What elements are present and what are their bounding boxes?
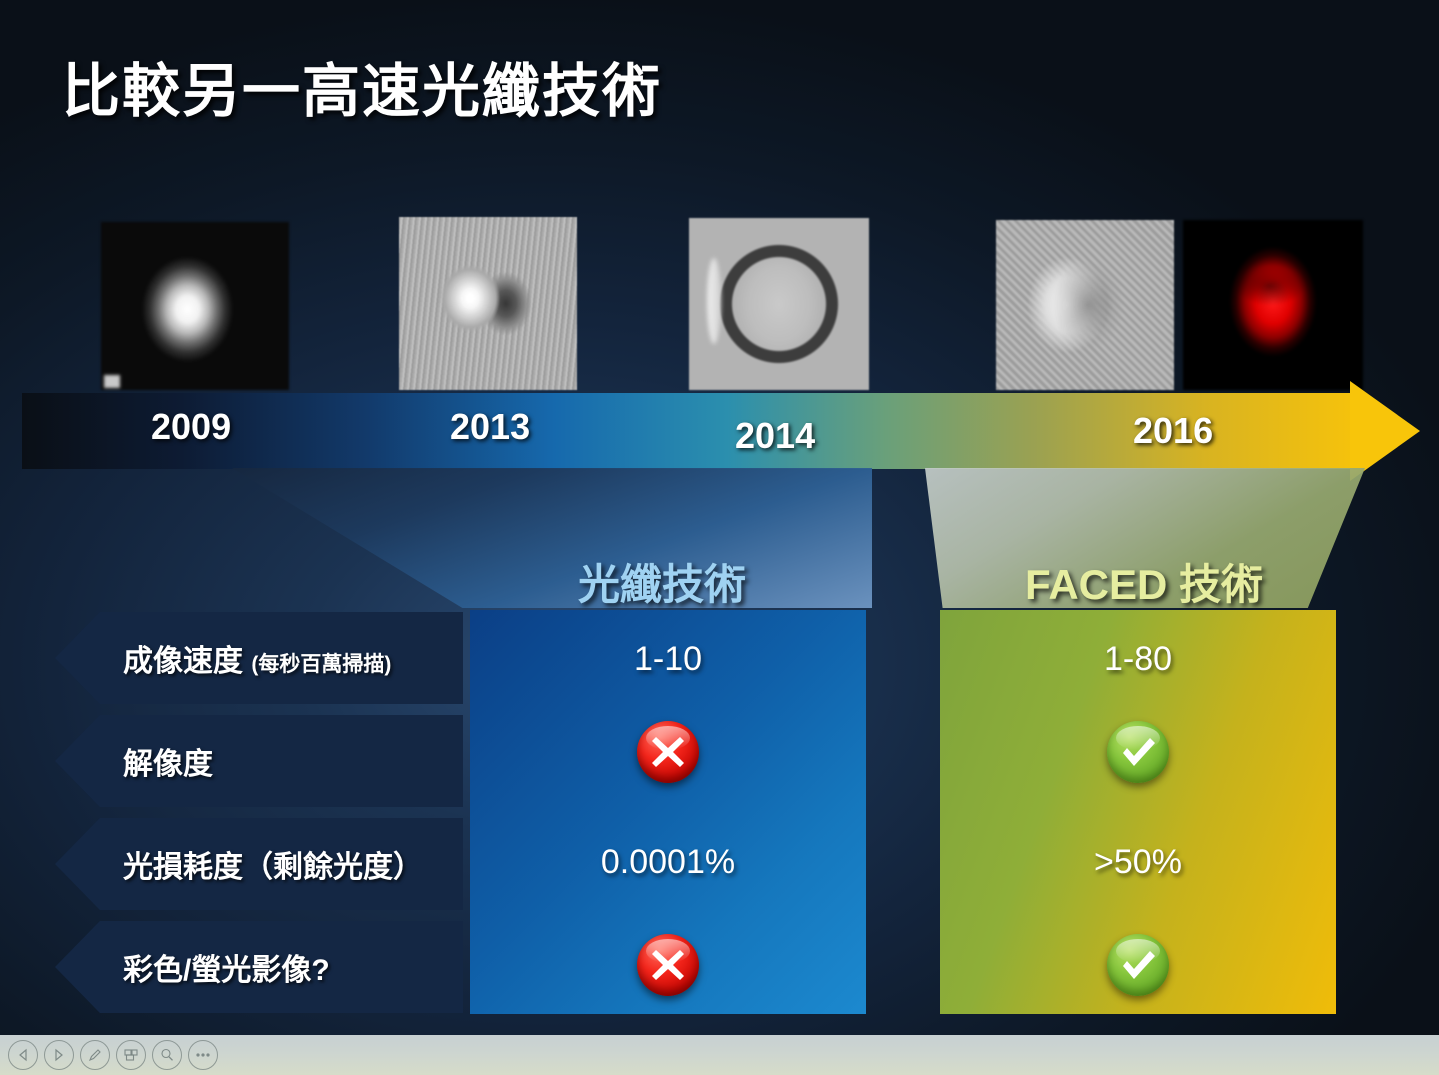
column-header-fiber: 光纖技術 <box>578 551 746 612</box>
cell-image-2016-fluorescence <box>1183 220 1363 390</box>
timeline-arrowhead-icon <box>1350 381 1420 481</box>
check-icon <box>1107 721 1169 783</box>
cell-image-2016-gray <box>996 220 1174 390</box>
pen-tool-button[interactable] <box>80 1040 110 1070</box>
presentation-toolbar <box>0 1035 1439 1075</box>
row-label-imaging-speed-sub: (每秒百萬掃描) <box>251 653 391 676</box>
row-label-resolution-main: 解像度 <box>123 748 213 781</box>
slide-overview-button[interactable] <box>116 1040 146 1070</box>
row-label-resolution: 解像度 <box>55 715 463 807</box>
row-label-imaging-speed-main: 成像速度 <box>123 645 243 678</box>
cell-image-2009 <box>101 222 289 390</box>
row-label-imaging-speed: 成像速度 (每秒百萬掃描) <box>55 612 463 704</box>
page-title: 比較另一高速光纖技術 <box>62 44 662 128</box>
previous-slide-button[interactable] <box>8 1040 38 1070</box>
cell-image-2013 <box>399 217 577 390</box>
timeline-year-2009: 2009 <box>151 406 231 448</box>
zoom-button[interactable] <box>152 1040 182 1070</box>
row-label-color-fluorescence: 彩色/螢光影像? <box>55 921 463 1013</box>
cross-icon <box>637 721 699 783</box>
check-icon <box>1107 934 1169 996</box>
cell-faced-imaging-speed: 1-80 <box>940 640 1336 679</box>
cell-fiber-imaging-speed: 1-10 <box>470 640 866 679</box>
row-label-optical-loss-main: 光損耗度（剩餘光度） <box>123 851 423 884</box>
cell-fiber-optical-loss: 0.0001% <box>470 843 866 882</box>
row-label-optical-loss: 光損耗度（剩餘光度） <box>55 818 463 910</box>
timeline-year-2016: 2016 <box>1133 410 1213 452</box>
timeline-year-2013: 2013 <box>450 406 530 448</box>
cell-image-2014 <box>689 218 869 390</box>
presentation-slide: 比較另一高速光纖技術 2009 2013 2014 2016 光纖技術 FACE… <box>0 0 1439 1035</box>
funnel-fiber <box>232 468 872 608</box>
cell-faced-optical-loss: >50% <box>940 843 1336 882</box>
timeline-year-2014: 2014 <box>735 415 815 457</box>
more-options-button[interactable] <box>188 1040 218 1070</box>
row-label-color-fluorescence-main: 彩色/螢光影像? <box>123 954 330 987</box>
cross-icon <box>637 934 699 996</box>
column-header-faced: FACED 技術 <box>1025 551 1263 612</box>
next-slide-button[interactable] <box>44 1040 74 1070</box>
